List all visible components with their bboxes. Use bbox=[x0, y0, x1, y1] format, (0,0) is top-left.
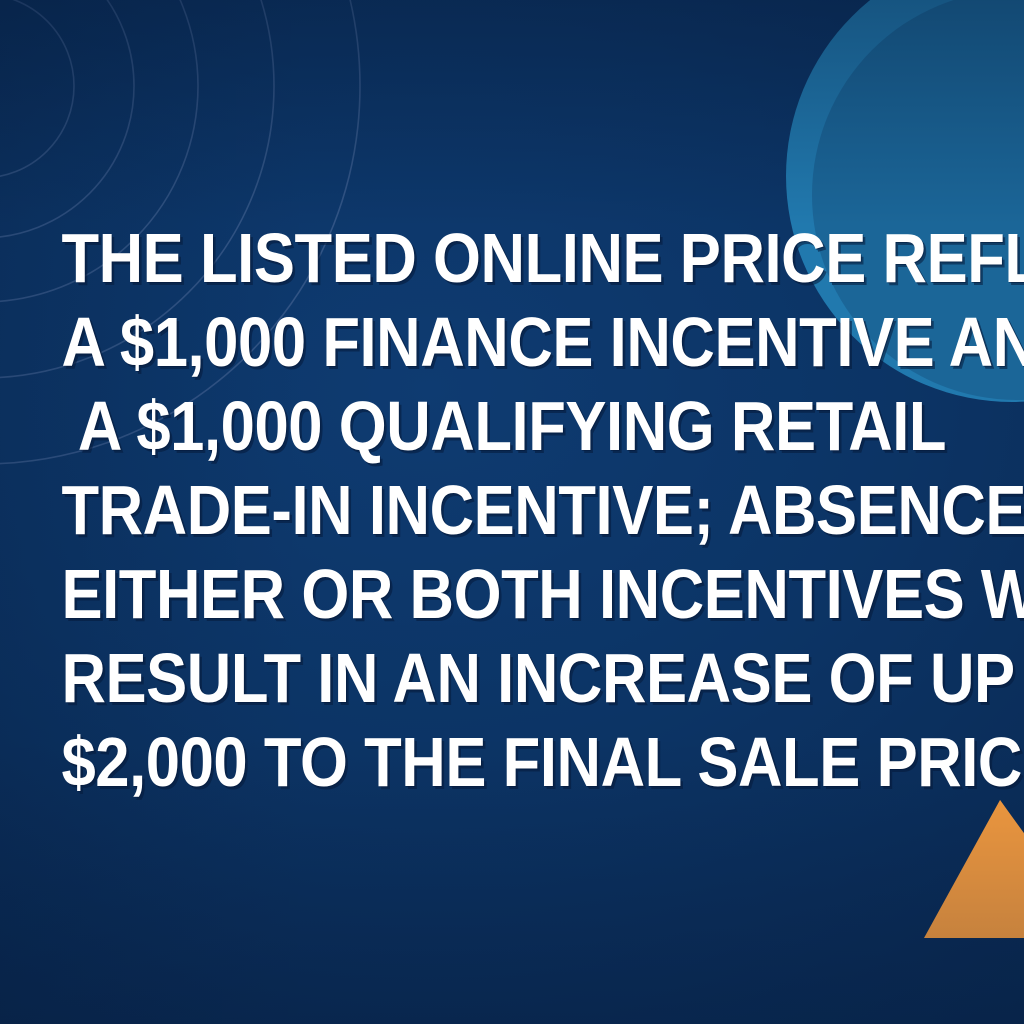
headline-line-3: A $1,000 QUALIFYING RETAIL bbox=[61, 384, 962, 468]
disclaimer-headline: THE LISTED ONLINE PRICE REFLECTS A $1,00… bbox=[61, 216, 962, 804]
headline-line-6: RESULT IN AN INCREASE OF UP TO bbox=[61, 636, 962, 720]
orange-triangle bbox=[900, 795, 1024, 943]
headline-line-5: EITHER OR BOTH INCENTIVES WILL bbox=[61, 552, 962, 636]
disclaimer-graphic-canvas: THE LISTED ONLINE PRICE REFLECTS A $1,00… bbox=[0, 0, 1024, 1024]
headline-line-1: THE LISTED ONLINE PRICE REFLECTS bbox=[61, 216, 962, 300]
headline-line-7: $2,000 TO THE FINAL SALE PRICE. bbox=[61, 720, 962, 804]
headline-line-2: A $1,000 FINANCE INCENTIVE AND bbox=[61, 300, 962, 384]
headline-line-4: TRADE-IN INCENTIVE; ABSENCE OF bbox=[61, 468, 962, 552]
